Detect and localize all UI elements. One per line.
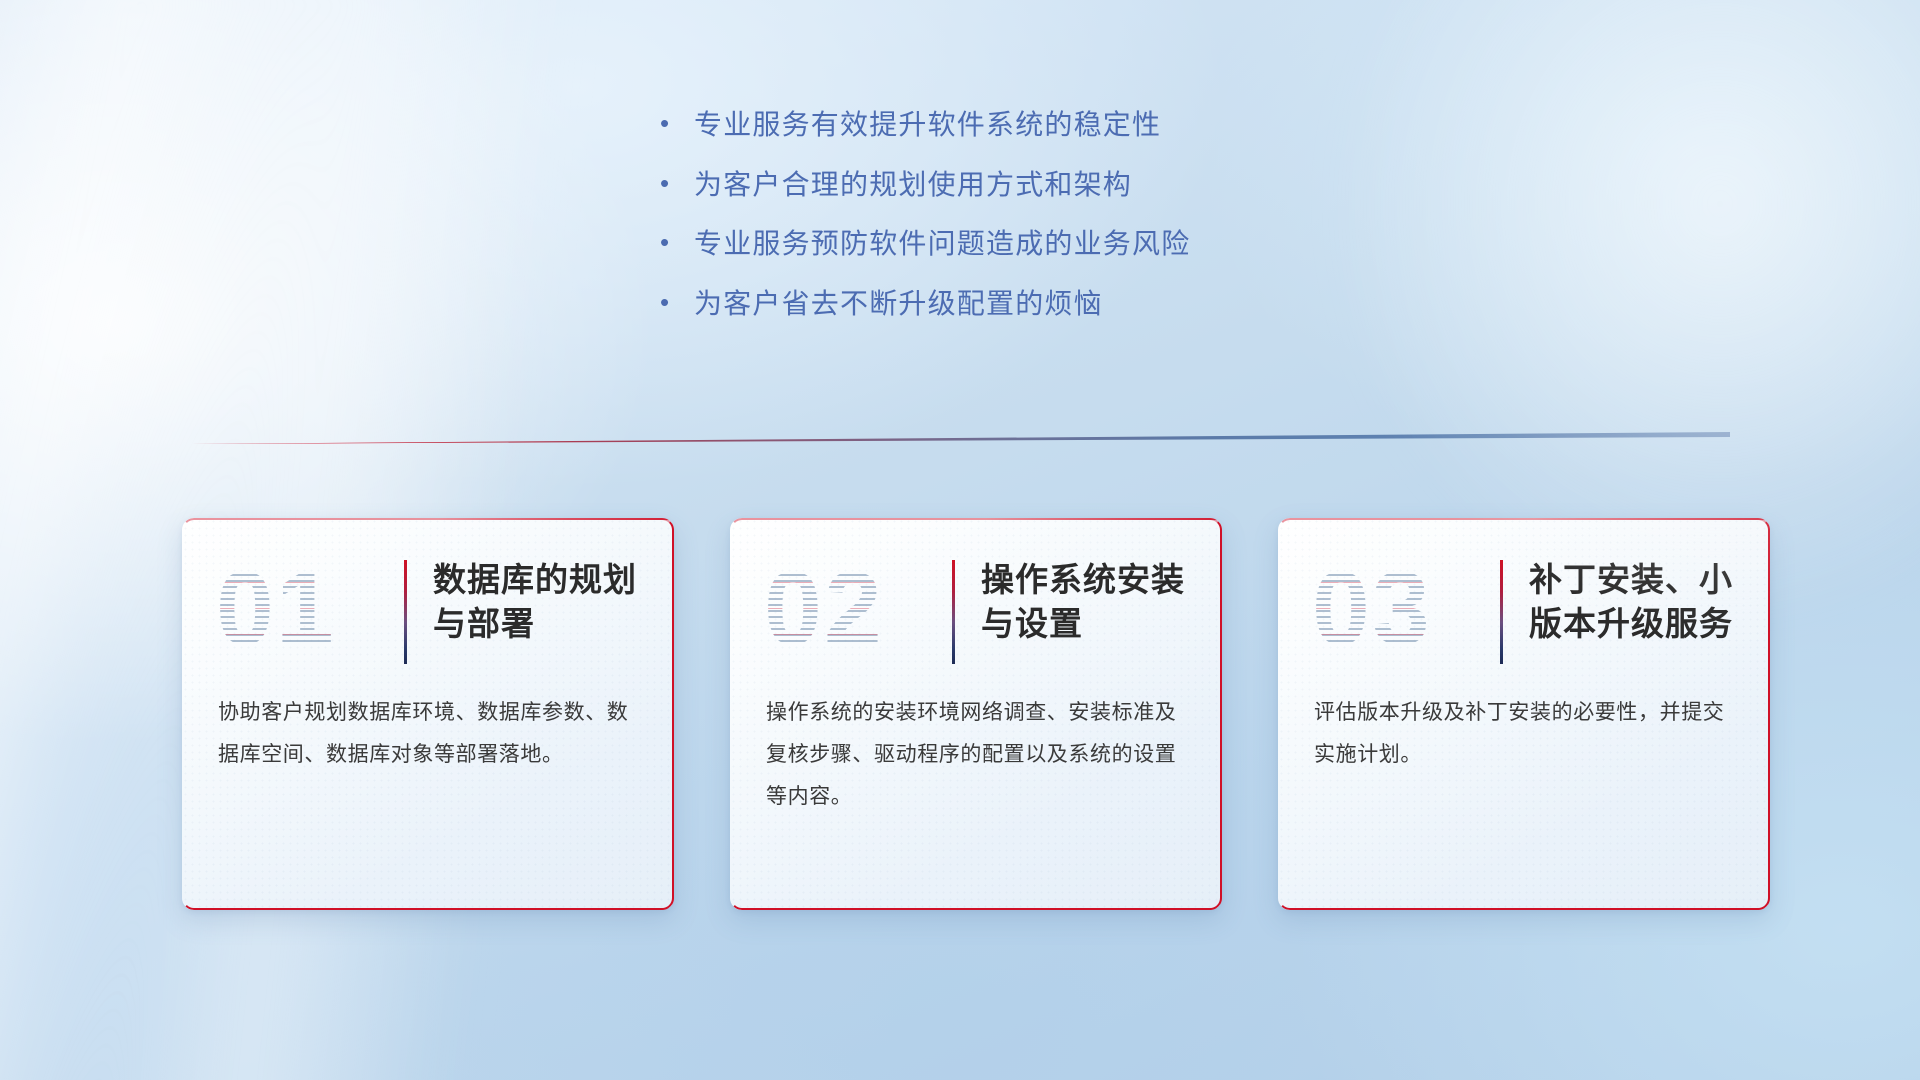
- card-number-watermark: 0101: [216, 556, 404, 668]
- card-title-divider: [404, 560, 407, 664]
- card-number-watermark: 0303: [1312, 556, 1500, 668]
- card-body-text: 操作系统的安装环境网络调查、安装标准及复核步骤、驱动程序的配置以及系统的设置等内…: [730, 686, 1222, 818]
- slide-canvas: • 专业服务有效提升软件系统的稳定性 • 为客户合理的规划使用方式和架构 • 专…: [0, 0, 1920, 1080]
- list-item: • 专业服务预防软件问题造成的业务风险: [660, 227, 1380, 261]
- bullet-marker-icon: •: [660, 289, 694, 315]
- card-title: 数据库的规划 与部署: [433, 556, 640, 646]
- service-card[interactable]: 0202 操作系统安装 与设置 操作系统的安装环境网络调查、安装标准及复核步骤、…: [730, 518, 1222, 910]
- list-item: • 为客户省去不断升级配置的烦恼: [660, 287, 1380, 321]
- card-title-divider: [1500, 560, 1503, 664]
- bullet-text: 为客户合理的规划使用方式和架构: [694, 168, 1132, 202]
- benefits-bullet-list: • 专业服务有效提升软件系统的稳定性 • 为客户合理的规划使用方式和架构 • 专…: [660, 108, 1380, 346]
- bullet-text: 为客户省去不断升级配置的烦恼: [694, 287, 1103, 321]
- card-header: 0303 补丁安装、小 版本升级服务: [1278, 518, 1770, 686]
- service-card-group: 0101 数据库的规划 与部署 协助客户规划数据库环境、数据库参数、数据库空间、…: [182, 518, 1770, 910]
- service-card[interactable]: 0101 数据库的规划 与部署 协助客户规划数据库环境、数据库参数、数据库空间、…: [182, 518, 674, 910]
- card-number-tint: 03: [1312, 556, 1500, 668]
- list-item: • 专业服务有效提升软件系统的稳定性: [660, 108, 1380, 142]
- card-number-watermark: 0202: [764, 556, 952, 668]
- divider-gradient-bar: [190, 432, 1730, 444]
- section-divider: [190, 432, 1730, 444]
- bullet-marker-icon: •: [660, 229, 694, 255]
- service-card[interactable]: 0303 补丁安装、小 版本升级服务 评估版本升级及补丁安装的必要性，并提交实施…: [1278, 518, 1770, 910]
- card-header: 0101 数据库的规划 与部署: [182, 518, 674, 686]
- card-body-text: 评估版本升级及补丁安装的必要性，并提交实施计划。: [1278, 686, 1770, 776]
- card-title: 操作系统安装 与设置: [981, 556, 1188, 646]
- card-body-text: 协助客户规划数据库环境、数据库参数、数据库空间、数据库对象等部署落地。: [182, 686, 674, 776]
- card-title-divider: [952, 560, 955, 664]
- card-title: 补丁安装、小 版本升级服务: [1529, 556, 1736, 646]
- bullet-text: 专业服务预防软件问题造成的业务风险: [694, 227, 1190, 261]
- bullet-marker-icon: •: [660, 110, 694, 136]
- bullet-marker-icon: •: [660, 170, 694, 196]
- card-number-tint: 02: [764, 556, 952, 668]
- card-header: 0202 操作系统安装 与设置: [730, 518, 1222, 686]
- list-item: • 为客户合理的规划使用方式和架构: [660, 168, 1380, 202]
- bullet-text: 专业服务有效提升软件系统的稳定性: [694, 108, 1161, 142]
- card-number-tint: 01: [216, 556, 404, 668]
